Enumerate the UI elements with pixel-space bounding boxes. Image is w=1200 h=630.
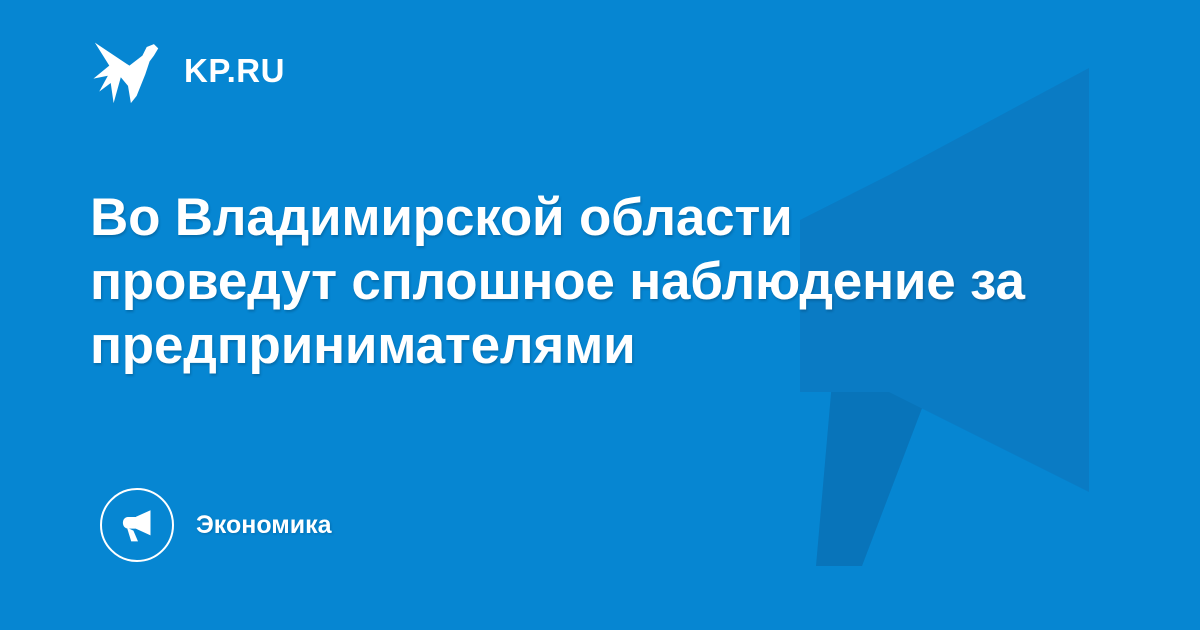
article-share-card: KP.RU Во Владимирской области проведут с… — [0, 0, 1200, 630]
rubric-badge[interactable] — [100, 488, 174, 562]
page-title: Во Владимирской области проведут сплошно… — [90, 186, 1050, 378]
brand-wordmark: KP.RU — [184, 54, 285, 87]
megaphone-handle-shape — [816, 382, 932, 566]
swallow-bird-icon — [92, 34, 164, 106]
brand-row[interactable]: KP.RU — [92, 34, 285, 106]
rubric-label: Экономика — [196, 513, 332, 538]
rubric-tag[interactable]: Экономика — [100, 488, 332, 562]
megaphone-icon — [117, 505, 157, 545]
